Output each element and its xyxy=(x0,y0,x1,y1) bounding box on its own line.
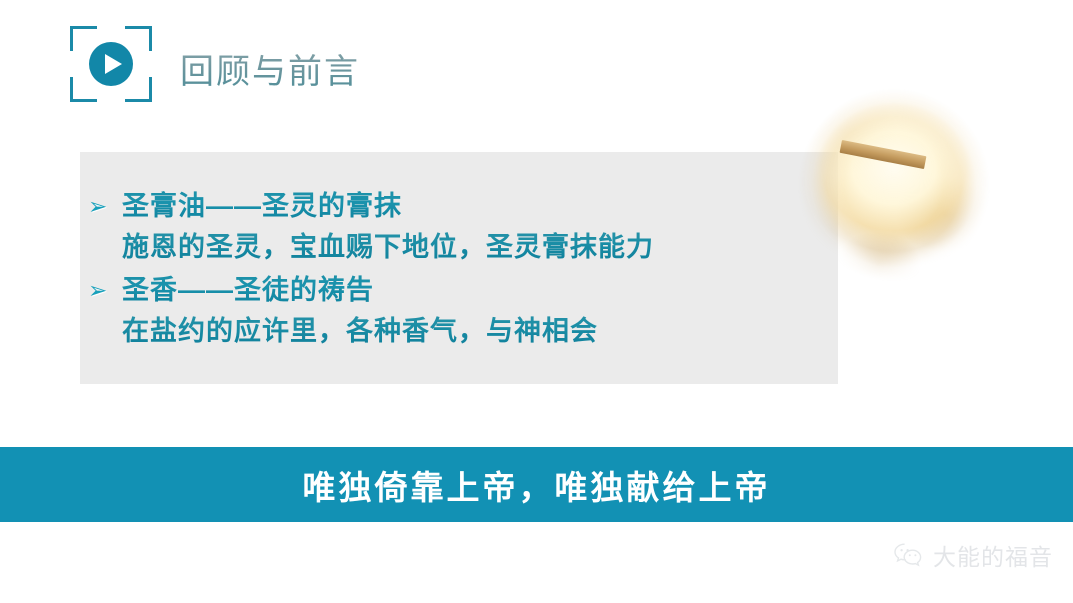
page-title: 回顾与前言 xyxy=(180,44,360,93)
wechat-icon xyxy=(892,541,926,569)
bracket-bottom-right xyxy=(125,77,152,102)
slide-canvas: 回顾与前言 ➢ 圣膏油——圣灵的膏抹 施恩的圣灵，宝血赐下地位，圣灵膏抹能力 ➢… xyxy=(0,0,1073,603)
cloud-glow xyxy=(790,84,990,294)
list-item: ➢ 圣香——圣徒的祷告 在盐约的应许里，各种香气，与神相会 xyxy=(88,270,788,352)
bullet-arrow-icon: ➢ xyxy=(88,270,122,310)
bracket-top-left xyxy=(70,26,97,51)
bullet-subtext: 施恩的圣灵，宝血赐下地位，圣灵膏抹能力 xyxy=(122,226,788,268)
bracket-top-right xyxy=(125,26,152,51)
list-item: ➢ 圣膏油——圣灵的膏抹 施恩的圣灵，宝血赐下地位，圣灵膏抹能力 xyxy=(88,186,788,268)
bullet-arrow-icon: ➢ xyxy=(88,186,122,226)
bullet-title: 圣香——圣徒的祷告 xyxy=(122,270,374,310)
play-button-icon xyxy=(89,42,133,86)
bullet-heading-row: ➢ 圣膏油——圣灵的膏抹 xyxy=(88,186,788,226)
slide-header: 回顾与前言 xyxy=(70,20,670,100)
bullet-subtext: 在盐约的应许里，各种香气，与神相会 xyxy=(122,310,788,352)
bracket-bottom-left xyxy=(70,77,97,102)
corner-bracket-frame-icon xyxy=(70,26,152,102)
bullet-list: ➢ 圣膏油——圣灵的膏抹 施恩的圣灵，宝血赐下地位，圣灵膏抹能力 ➢ 圣香——圣… xyxy=(88,186,788,354)
watermark: 大能的福音 xyxy=(892,538,1053,572)
banner-text: 唯独倚靠上帝，唯独献给上帝 xyxy=(303,461,771,509)
play-triangle-icon xyxy=(105,54,122,74)
bullet-heading-row: ➢ 圣香——圣徒的祷告 xyxy=(88,270,788,310)
bottom-banner: 唯独倚靠上帝，唯独献给上帝 xyxy=(0,447,1073,522)
watermark-text: 大能的福音 xyxy=(933,538,1053,572)
bullet-title: 圣膏油——圣灵的膏抹 xyxy=(122,186,402,226)
cross-in-clouds-image xyxy=(790,84,990,294)
